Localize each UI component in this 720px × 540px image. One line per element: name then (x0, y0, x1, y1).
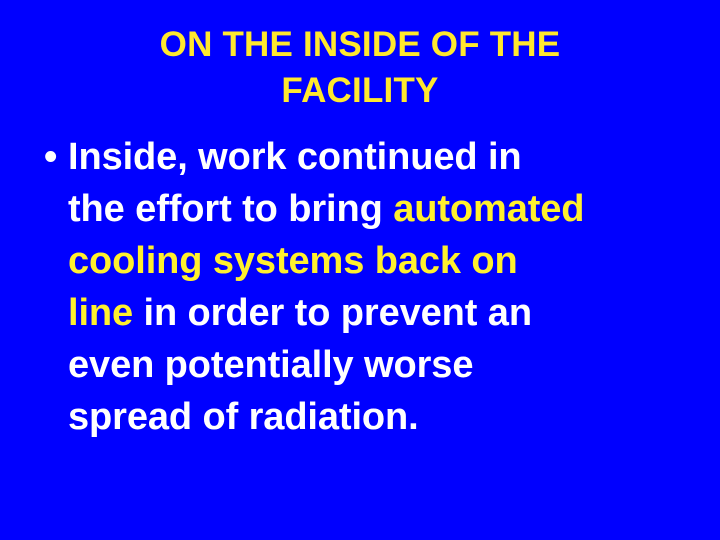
bullet-point-icon: • (44, 131, 57, 183)
body-line-4: line in order to prevent an (68, 287, 700, 339)
slide-title: ON THE INSIDE OF THE FACILITY (50, 22, 670, 114)
body-line-4-highlight: line (68, 292, 133, 334)
body-line-1: Inside, work continued in (68, 131, 700, 183)
body-line-4-plain: in order to prevent an (133, 292, 532, 334)
slide-title-line-1: ON THE INSIDE OF THE (50, 22, 670, 68)
slide-body: • Inside, work continued in the effort t… (40, 131, 700, 443)
bullet-item-text: Inside, work continued in the effort to … (68, 131, 700, 443)
body-line-6: spread of radiation. (68, 391, 700, 443)
slide-title-line-2: FACILITY (50, 68, 670, 114)
body-line-2: the effort to bring automated (68, 183, 700, 235)
bullet-list-item: • Inside, work continued in the effort t… (40, 131, 700, 443)
body-line-2-highlight: automated (393, 188, 584, 230)
body-line-3: cooling systems back on (68, 235, 700, 287)
body-line-5-text: even potentially worse (68, 344, 473, 386)
body-line-2-plain: the effort to bring (68, 188, 393, 230)
body-line-6-text: spread of radiation. (68, 396, 419, 438)
body-line-5: even potentially worse (68, 339, 700, 391)
body-line-1-text: Inside, work continued in (68, 136, 522, 178)
body-line-3-highlight: cooling systems back on (68, 240, 518, 282)
presentation-slide: ON THE INSIDE OF THE FACILITY • Inside, … (0, 0, 720, 540)
